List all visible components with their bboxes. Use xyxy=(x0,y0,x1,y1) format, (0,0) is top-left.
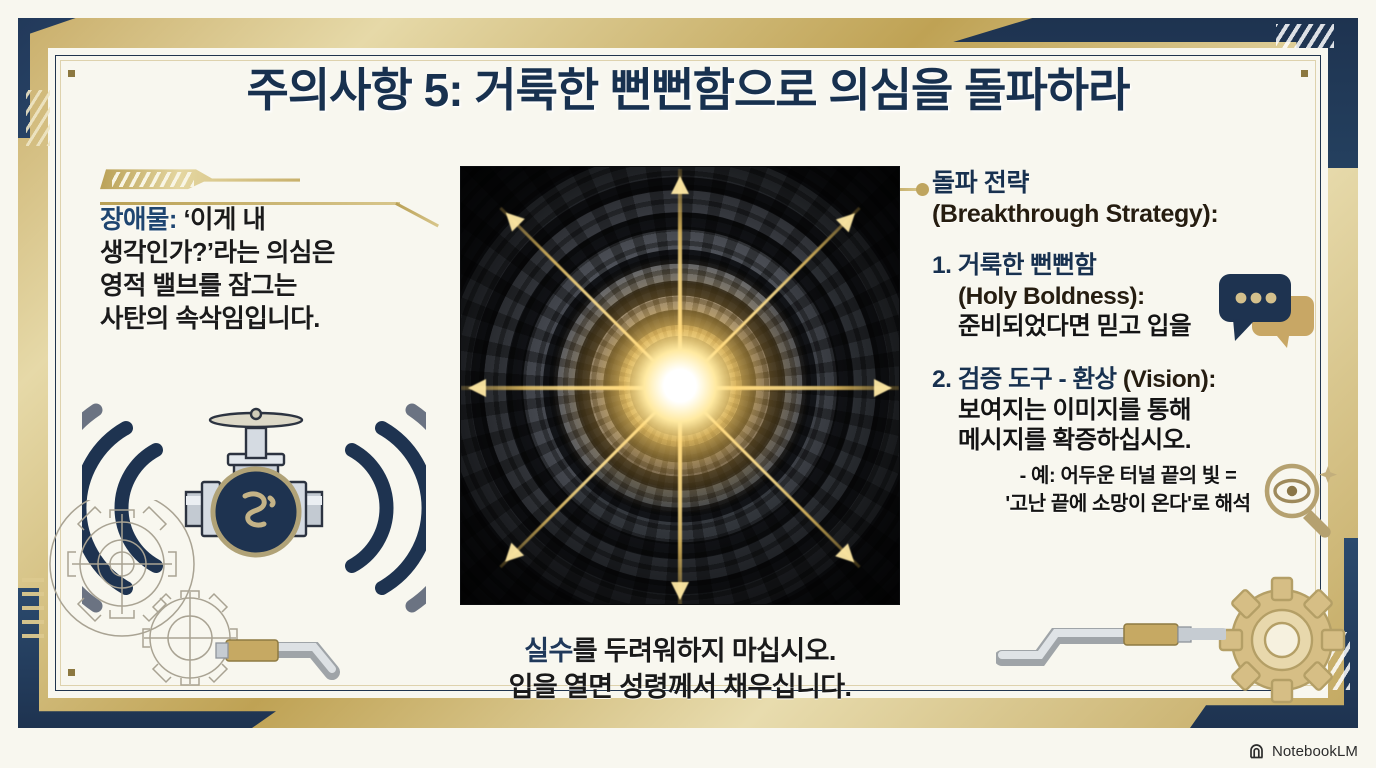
gold-tag-bar-icon xyxy=(100,168,300,190)
hatch-decor-top-right xyxy=(1276,24,1334,48)
pipe-fitting-icon xyxy=(216,640,332,672)
bottom-caption: 실수를 두려워하지 마십시오. 입을 열면 성령께서 채우십니다. xyxy=(400,634,960,705)
gear-icon xyxy=(1216,574,1348,706)
obstacle-line2: 생각인가?’라는 의심은 xyxy=(100,237,440,270)
item-2-number: 2. xyxy=(932,366,951,393)
item-2-title-ko: 검증 도구 - 환상 xyxy=(958,366,1117,393)
speech-bubble-icon xyxy=(1217,272,1321,348)
item-1-title-ko: 거룩한 뻔뻔함 xyxy=(958,252,1097,279)
caption-highlight: 실수 xyxy=(524,636,572,666)
connector-line-left xyxy=(100,188,462,228)
item-2-body-line1: 보여지는 이미지를 통해 xyxy=(932,396,1324,427)
slide-canvas: 주의사항 5: 거룩한 뻔뻔함으로 의심을 돌파하라 장애물: ‘이게 내 생각… xyxy=(0,0,1376,768)
caption-line2: 입을 열면 성령께서 채우십니다. xyxy=(400,670,960,706)
eye-magnifier-icon xyxy=(1258,458,1344,542)
strategy-heading-ko: 돌파 전략 xyxy=(932,168,1324,199)
strategy-heading-en: (Breakthrough Strategy): xyxy=(932,199,1324,230)
notebooklm-watermark: NotebookLM xyxy=(1249,743,1358,760)
pipe-fitting-icon xyxy=(996,610,1226,680)
item-2-body-line2: 메시지를 확증하십시오. xyxy=(932,426,1324,457)
blueprint-gear-outlines xyxy=(40,500,340,710)
obstacle-line3: 영적 밸브를 잠그는 xyxy=(100,270,440,303)
item-2-title-en: (Vision): xyxy=(1123,366,1216,393)
item-1-number: 1. xyxy=(932,252,951,279)
notebooklm-spiral-icon xyxy=(1249,743,1266,760)
sound-wave-arcs-right xyxy=(352,410,426,606)
obstacle-line4: 사탄의 속삭임입니다. xyxy=(100,303,440,336)
page-title: 주의사항 5: 거룩한 뻔뻔함으로 의심을 돌파하라 xyxy=(0,54,1376,120)
caption-line1: 를 두려워하지 마십시오. xyxy=(573,636,836,666)
watermark-label: NotebookLM xyxy=(1272,743,1358,760)
radiant-tunnel-image xyxy=(461,167,899,604)
